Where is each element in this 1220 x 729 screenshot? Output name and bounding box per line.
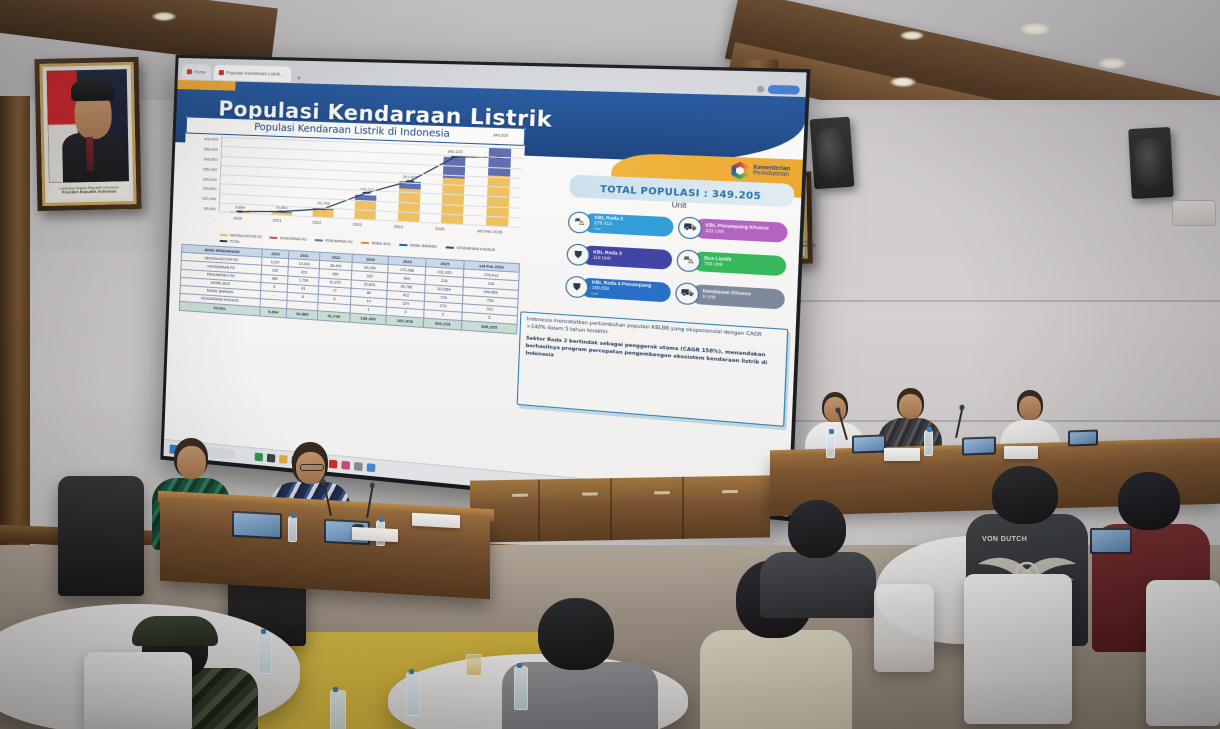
kemenperin-hex-icon — [730, 161, 750, 179]
x-tick-label: 2022 — [312, 219, 321, 225]
water-bottle[interactable] — [406, 672, 420, 716]
chrome-icon[interactable] — [255, 453, 263, 462]
x-tick-label: 2024 — [394, 223, 403, 229]
y-tick-label: 400,000 — [204, 136, 218, 142]
legend-swatch — [315, 239, 323, 242]
nameplate — [1004, 446, 1038, 459]
kemenperin-logo: Kementerian Perindustrian — [730, 161, 791, 181]
legend-swatch — [361, 241, 370, 244]
kpi-pill: Bus Listrik793 Unit — [692, 251, 787, 276]
downlight-icon — [900, 31, 924, 40]
table-total-cell: 41,743 — [318, 311, 350, 322]
table-total-cell: 342,223 — [424, 318, 462, 330]
panelist-center-face — [899, 394, 922, 419]
president-portrait-caption: Lambang Negara Republik Indonesia Presid… — [49, 181, 129, 199]
audience-dark — [760, 500, 876, 604]
browser-tab-home[interactable]: Home — [182, 64, 211, 80]
cabinet-handle[interactable] — [512, 494, 528, 497]
drinking-glass[interactable] — [466, 654, 482, 676]
legend-label: KENDARAAN KHUSUS — [456, 246, 495, 252]
nameplate — [412, 513, 460, 529]
legend-label: KENDARAAN R3 — [280, 236, 307, 242]
favicon-icon — [187, 69, 192, 74]
chart-title: Populasi Kendaraan Listrik di Indonesia — [254, 122, 450, 140]
kpi-item: ⛊KBL Roda 3118 Unit — [566, 240, 672, 274]
legend-swatch — [446, 246, 455, 249]
meeting-room-scene: Lambang Negara Republik Indonesia Presid… — [0, 0, 1220, 729]
org-name-line-2: Perindustrian — [753, 171, 790, 178]
new-tab-button[interactable]: + — [293, 75, 304, 82]
x-tick-label: 2021 — [272, 217, 281, 223]
y-tick-label: 100,000 — [202, 196, 216, 202]
kpi-pill: Kendaraan Khusus5 Unit — [690, 284, 785, 310]
y-tick-label: 150,000 — [202, 186, 216, 192]
presentation-slide: Populasi Kendaraan Listrik Kementerian P… — [164, 80, 805, 498]
water-bottle[interactable] — [258, 632, 272, 674]
legend-swatch — [219, 240, 227, 243]
browser-actions — [757, 85, 800, 95]
audience-chair[interactable] — [84, 652, 192, 729]
wall-speaker — [810, 117, 855, 190]
audience-head — [992, 466, 1058, 524]
legend-label: PENUMPANG R4 — [325, 239, 353, 245]
kpi-item: ⛟KBL Penumpang Khusus331 Unit — [678, 213, 789, 247]
nameplate — [352, 527, 398, 542]
browser-tab-label: Home — [194, 69, 206, 74]
table-total-cell: 207,478 — [386, 315, 424, 327]
downlight-icon — [152, 12, 176, 21]
kpi-item: ⛟Kendaraan Khusus5 Unit — [675, 279, 786, 314]
baseball-cap-icon — [132, 616, 218, 646]
wall-panel-line — [790, 300, 1220, 302]
projected-display: Home Populasi Kendaraan Listrik ... + Po… — [163, 58, 806, 517]
cabinet-handle[interactable] — [654, 491, 670, 494]
panelist-laptop[interactable] — [852, 434, 886, 453]
kpi-grid: ⛍KBL Roda 2276.413Unit⛟KBL Penumpang Khu… — [565, 208, 793, 315]
chart-card: Populasi Kendaraan Listrik di Indonesia … — [182, 116, 526, 258]
portrait-tie — [86, 137, 93, 171]
y-tick-label: 350,000 — [204, 146, 218, 152]
attendee-face — [177, 446, 206, 479]
vehicle-population-table: JENIS KENDARAAN202020212022202320242025s… — [179, 244, 520, 334]
panelist-right-face — [1019, 396, 1041, 420]
legend-item: SEPEDA MOTOR R2 — [220, 233, 262, 239]
water-bottle[interactable] — [924, 430, 933, 456]
legend-label: MOBIL BARANG — [410, 243, 437, 249]
legend-item: MOBIL BARANG — [399, 243, 437, 249]
president-portrait-photo — [47, 69, 129, 183]
kpi-pill: KBL Roda 3118 Unit — [581, 245, 672, 270]
cream-shirt — [700, 630, 852, 729]
portrait-suit — [62, 132, 125, 183]
kpi-item: ⛍Bus Listrik793 Unit — [676, 246, 787, 281]
browser-tab-active[interactable]: Populasi Kendaraan Listrik ... — [214, 65, 291, 82]
y-tick-label: 200,000 — [203, 176, 217, 182]
audience-chair[interactable] — [1146, 580, 1220, 726]
peci-hat-icon — [71, 78, 115, 101]
legend-item: KENDARAAN R3 — [270, 236, 307, 242]
y-tick-label: 50,000 — [204, 206, 216, 212]
water-bottle[interactable] — [330, 690, 346, 729]
chart-plot: 400,000350,000300,000250,000200,000150,0… — [182, 135, 524, 237]
downlight-icon — [1098, 58, 1126, 69]
browser-menu-icon[interactable] — [757, 86, 765, 93]
cabinet-handle[interactable] — [722, 490, 738, 493]
cabinet-handle[interactable] — [582, 492, 598, 495]
legend-item: MOBIL BUS — [361, 241, 391, 247]
x-tick-label: 2025 — [435, 225, 445, 231]
wood-column-left — [0, 96, 30, 556]
president-portrait-frame: Lambang Negara Republik Indonesia Presid… — [34, 57, 141, 211]
kpi-pill: KBL Roda 4 Penumpang159.659Unit — [580, 278, 671, 303]
downlight-icon — [890, 77, 916, 87]
insight-box: Indonesia mencatatkan pertumbuhan popula… — [517, 311, 789, 427]
audience-head — [1118, 472, 1180, 530]
settings-icon[interactable] — [354, 462, 363, 471]
downlight-icon — [1020, 23, 1050, 35]
caption-line-2: Presiden Republik Indonesia — [62, 189, 117, 195]
attendee-laptop[interactable] — [232, 511, 282, 540]
audience-head — [538, 598, 614, 670]
projection-screen: Home Populasi Kendaraan Listrik ... + Po… — [160, 55, 810, 522]
legend-label: MOBIL BUS — [372, 241, 391, 246]
y-tick-label: - — [214, 216, 215, 221]
office-chair[interactable] — [58, 476, 144, 596]
water-bottle[interactable] — [288, 516, 297, 542]
kpi-item: ⛊KBL Roda 4 Penumpang159.659Unit — [565, 272, 671, 307]
audience-chair[interactable] — [964, 574, 1072, 724]
kpi-item: ⛍KBL Roda 2276.413Unit — [568, 208, 674, 241]
pdf-favicon-icon — [219, 70, 224, 75]
kpi-pill: KBL Penumpang Khusus331 Unit — [693, 218, 788, 243]
nameplate — [884, 448, 920, 461]
audience-laptop[interactable] — [1090, 528, 1132, 554]
dark-shirt — [760, 552, 876, 618]
table-total-cell: 5,894 — [260, 307, 287, 318]
browser-tab-label: Populasi Kendaraan Listrik ... — [226, 70, 286, 77]
legend-item: PENUMPANG R4 — [315, 238, 353, 244]
legend-swatch — [399, 243, 408, 246]
slide-accent-left — [177, 80, 235, 91]
legend-swatch — [220, 234, 228, 237]
legend-item: TOTAL — [219, 239, 240, 244]
bar-value-label: 349,205 — [493, 133, 508, 138]
x-tick-label: s/d Feb 2026 — [477, 227, 502, 234]
kpi-panel: TOTAL POPULASI : 349.205 Unit ⛍KBL Roda … — [565, 175, 795, 315]
audience-chair[interactable] — [874, 584, 934, 672]
y-tick-label: 300,000 — [203, 156, 217, 162]
wall-speaker — [1128, 127, 1174, 199]
x-tick-label: 2020 — [233, 215, 242, 221]
legend-label: SEPEDA MOTOR R2 — [230, 233, 262, 239]
panelist-laptop[interactable] — [1068, 429, 1098, 446]
water-bottle[interactable] — [514, 666, 528, 710]
table-total-cell: 16,883 — [286, 309, 318, 320]
panelist-laptop[interactable] — [962, 436, 996, 455]
chart-y-axis: 400,000350,000300,000250,000200,000150,0… — [182, 135, 221, 221]
legend-item: KENDARAAN KHUSUS — [446, 245, 496, 252]
von-dutch-graphic-text: VON DUTCH — [982, 536, 1027, 543]
y-tick-label: 250,000 — [203, 166, 217, 172]
total-data-point — [277, 210, 285, 213]
wall-cabinets — [470, 475, 770, 542]
x-tick-label: 2023 — [353, 221, 362, 227]
legend-swatch — [270, 236, 278, 239]
kpi-pill: KBL Roda 2276.413Unit — [582, 213, 673, 237]
glasses-icon — [300, 464, 324, 471]
audience-head — [788, 500, 846, 558]
share-button[interactable] — [768, 85, 800, 95]
teams-icon[interactable] — [367, 463, 376, 472]
table-total-cell: 136,433 — [349, 313, 386, 324]
wall-vent — [1172, 200, 1216, 226]
legend-label: TOTAL — [229, 239, 240, 244]
water-bottle[interactable] — [826, 432, 835, 458]
